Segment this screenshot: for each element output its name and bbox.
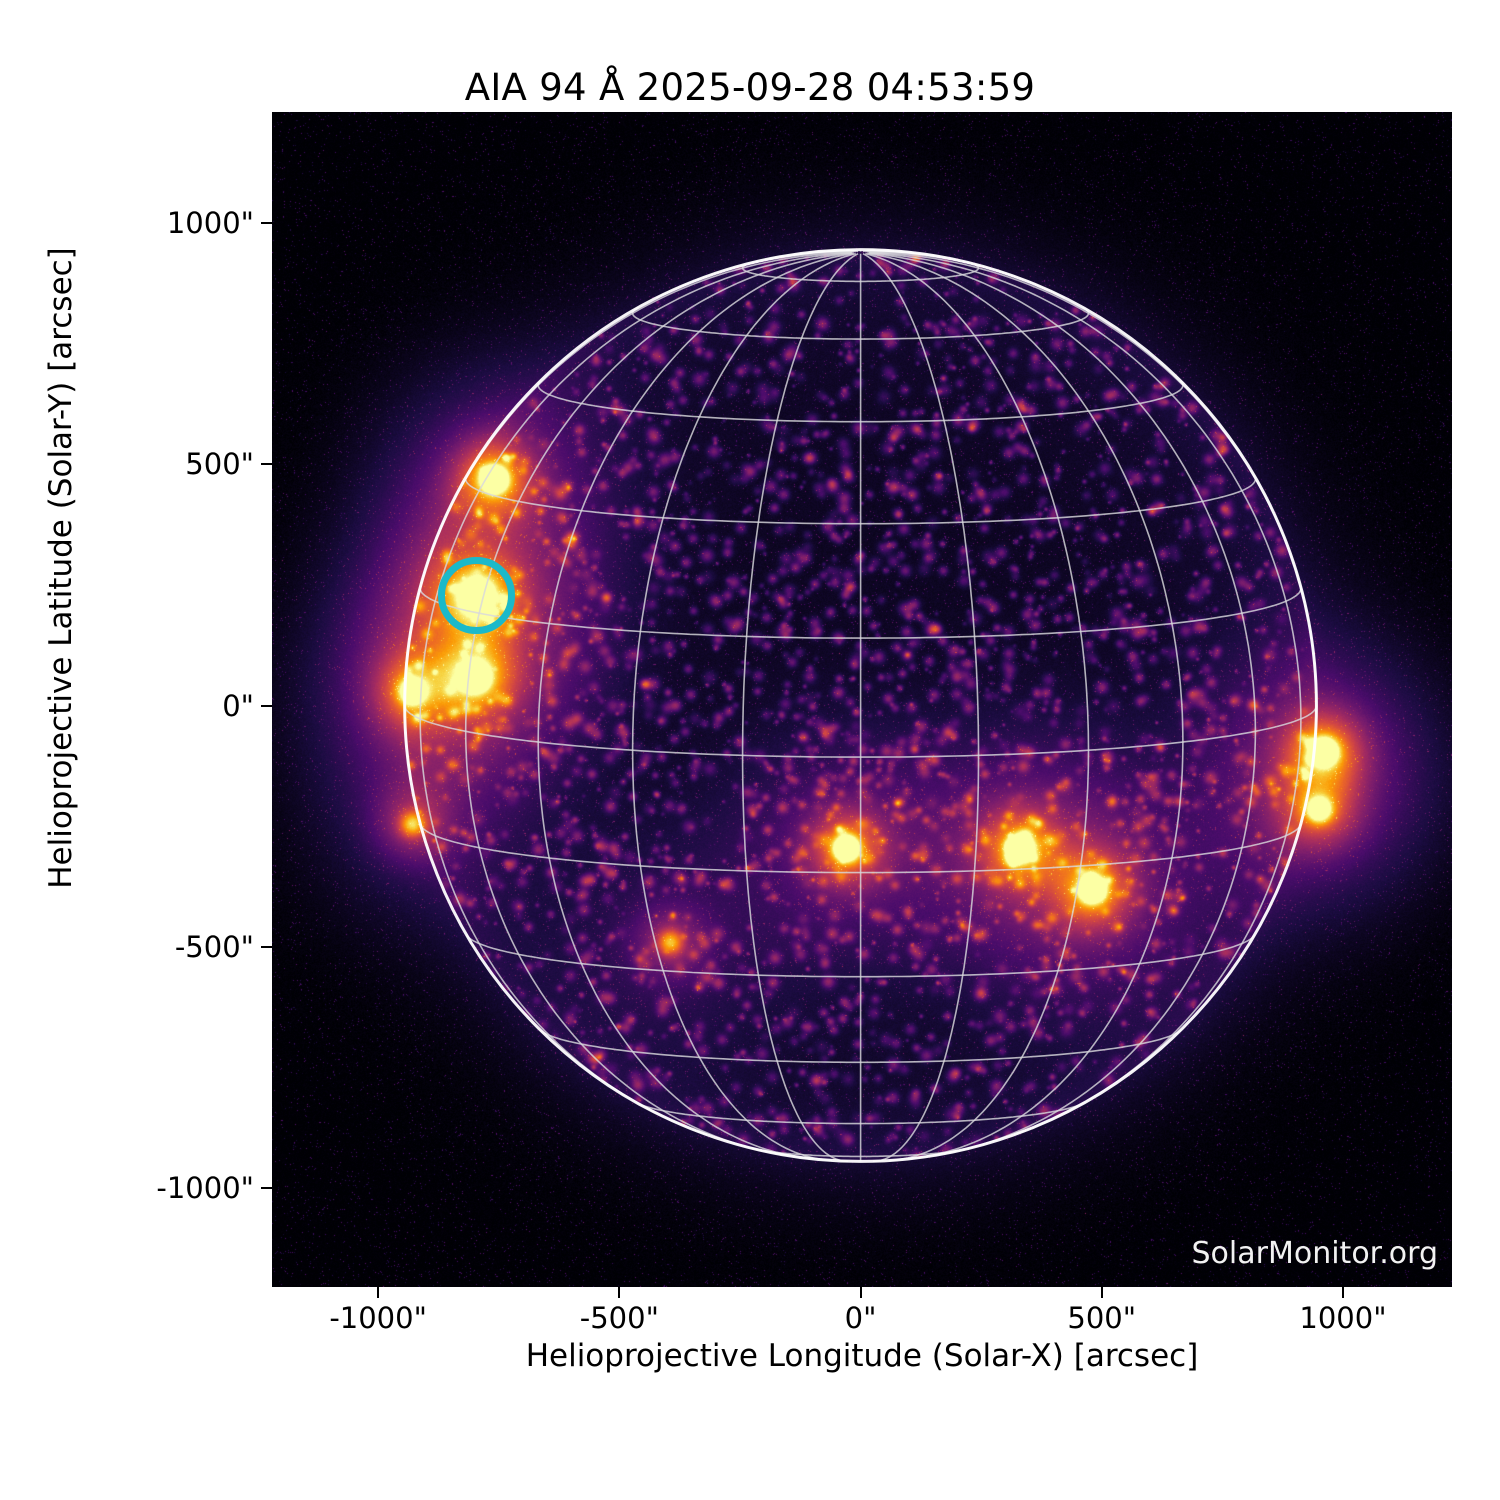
watermark-label: SolarMonitor.org — [1192, 1236, 1438, 1271]
y-tick-mark — [261, 463, 272, 465]
y-axis-title: Helioprojective Latitude (Solar-Y) [arcs… — [43, 118, 79, 1018]
x-tick-label: -500" — [580, 1301, 659, 1335]
x-tick-label: 0" — [845, 1301, 877, 1335]
y-tick-label: 0" — [222, 689, 254, 723]
x-tick-label: 500" — [1067, 1301, 1136, 1335]
y-tick-mark — [261, 1187, 272, 1189]
x-axis-title: Helioprojective Longitude (Solar-X) [arc… — [272, 1338, 1452, 1374]
page-title: AIA 94 Å 2025-09-28 04:53:59 — [0, 66, 1500, 109]
y-tick-label: -1000" — [156, 1171, 254, 1205]
x-tick-label: 1000" — [1299, 1301, 1386, 1335]
x-tick-mark — [1101, 1287, 1103, 1298]
x-tick-label: -1000" — [329, 1301, 427, 1335]
x-tick-mark — [1342, 1287, 1344, 1298]
x-tick-mark — [860, 1287, 862, 1298]
y-tick-label: 1000" — [167, 206, 254, 240]
x-tick-mark — [618, 1287, 620, 1298]
y-tick-mark — [261, 222, 272, 224]
solar-image-canvas[interactable]: SolarMonitor.org — [272, 112, 1452, 1287]
x-tick-mark — [377, 1287, 379, 1298]
y-tick-label: 500" — [185, 447, 254, 481]
y-axis-ticks: 1000"500"0"-500"-1000" — [0, 112, 272, 1287]
heliographic-grid-overlay — [272, 112, 1452, 1287]
y-tick-label: -500" — [175, 930, 254, 964]
y-tick-mark — [261, 946, 272, 948]
y-tick-mark — [261, 705, 272, 707]
solar-image-figure: AIA 94 Å 2025-09-28 04:53:59 1000"500"0"… — [0, 0, 1500, 1500]
